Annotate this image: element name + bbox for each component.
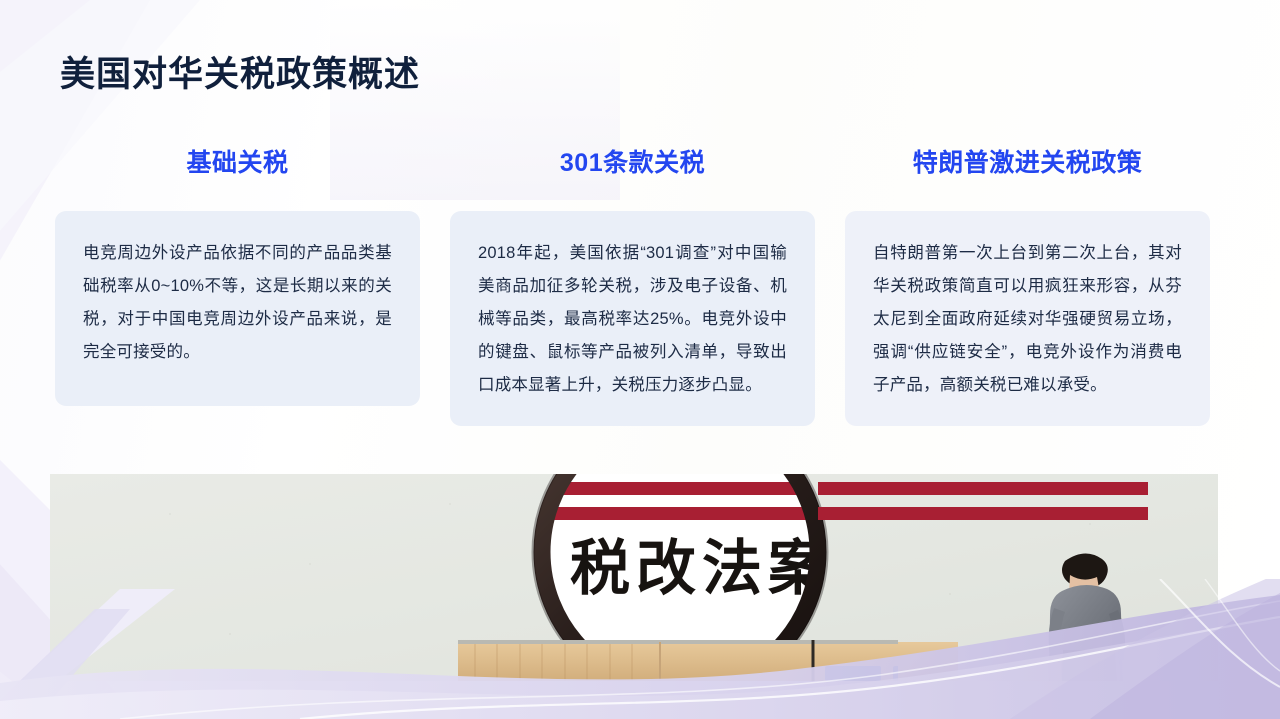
- blue-tile-1: [825, 666, 881, 681]
- column-heading-3: 特朗普激进关税政策: [913, 148, 1143, 178]
- card-body-2: 2018年起，美国依据“301调查”对中国输美商品加征多轮关税，涉及电子设备、机…: [478, 237, 787, 402]
- card-body-3: 自特朗普第一次上台到第二次上台，其对华关税政策简直可以用疯狂来形容，从芬太尼到全…: [873, 237, 1182, 402]
- info-card-3: 自特朗普第一次上台到第二次上台，其对华关税政策简直可以用疯狂来形容，从芬太尼到全…: [845, 211, 1210, 426]
- column-basic-tariff: 基础关税 电竞周边外设产品依据不同的产品品类基础税率从0~10%不等，这是长期以…: [55, 148, 420, 426]
- info-card-2: 2018年起，美国依据“301调查”对中国输美商品加征多轮关税，涉及电子设备、机…: [450, 211, 815, 426]
- info-card-1: 电竞周边外设产品依据不同的产品品类基础税率从0~10%不等，这是长期以来的关税，…: [55, 211, 420, 406]
- card-body-1: 电竞周边外设产品依据不同的产品品类基础税率从0~10%不等，这是长期以来的关税，…: [83, 237, 392, 369]
- column-trump-tariff: 特朗普激进关税政策 自特朗普第一次上台到第二次上台，其对华关税政策简直可以用疯狂…: [845, 148, 1210, 426]
- column-heading-2: 301条款关税: [560, 148, 705, 178]
- column-301-tariff: 301条款关税 2018年起，美国依据“301调查”对中国输美商品加征多轮关税，…: [450, 148, 815, 426]
- wooden-blocks-icon: [458, 640, 958, 681]
- column-heading-1: 基础关税: [186, 148, 288, 178]
- document-text: 税改法案: [570, 534, 834, 604]
- columns-container: 基础关税 电竞周边外设产品依据不同的产品品类基础税率从0~10%不等，这是长期以…: [55, 148, 1225, 426]
- photo-banner: 税改法案: [50, 474, 1218, 681]
- title-block: 美国对华关税政策概述: [60, 52, 420, 98]
- slide-root: 美国对华关税政策概述 基础关税 电竞周边外设产品依据不同的产品品类基础税率从0~…: [0, 0, 1280, 719]
- page-title: 美国对华关税政策概述: [60, 52, 420, 98]
